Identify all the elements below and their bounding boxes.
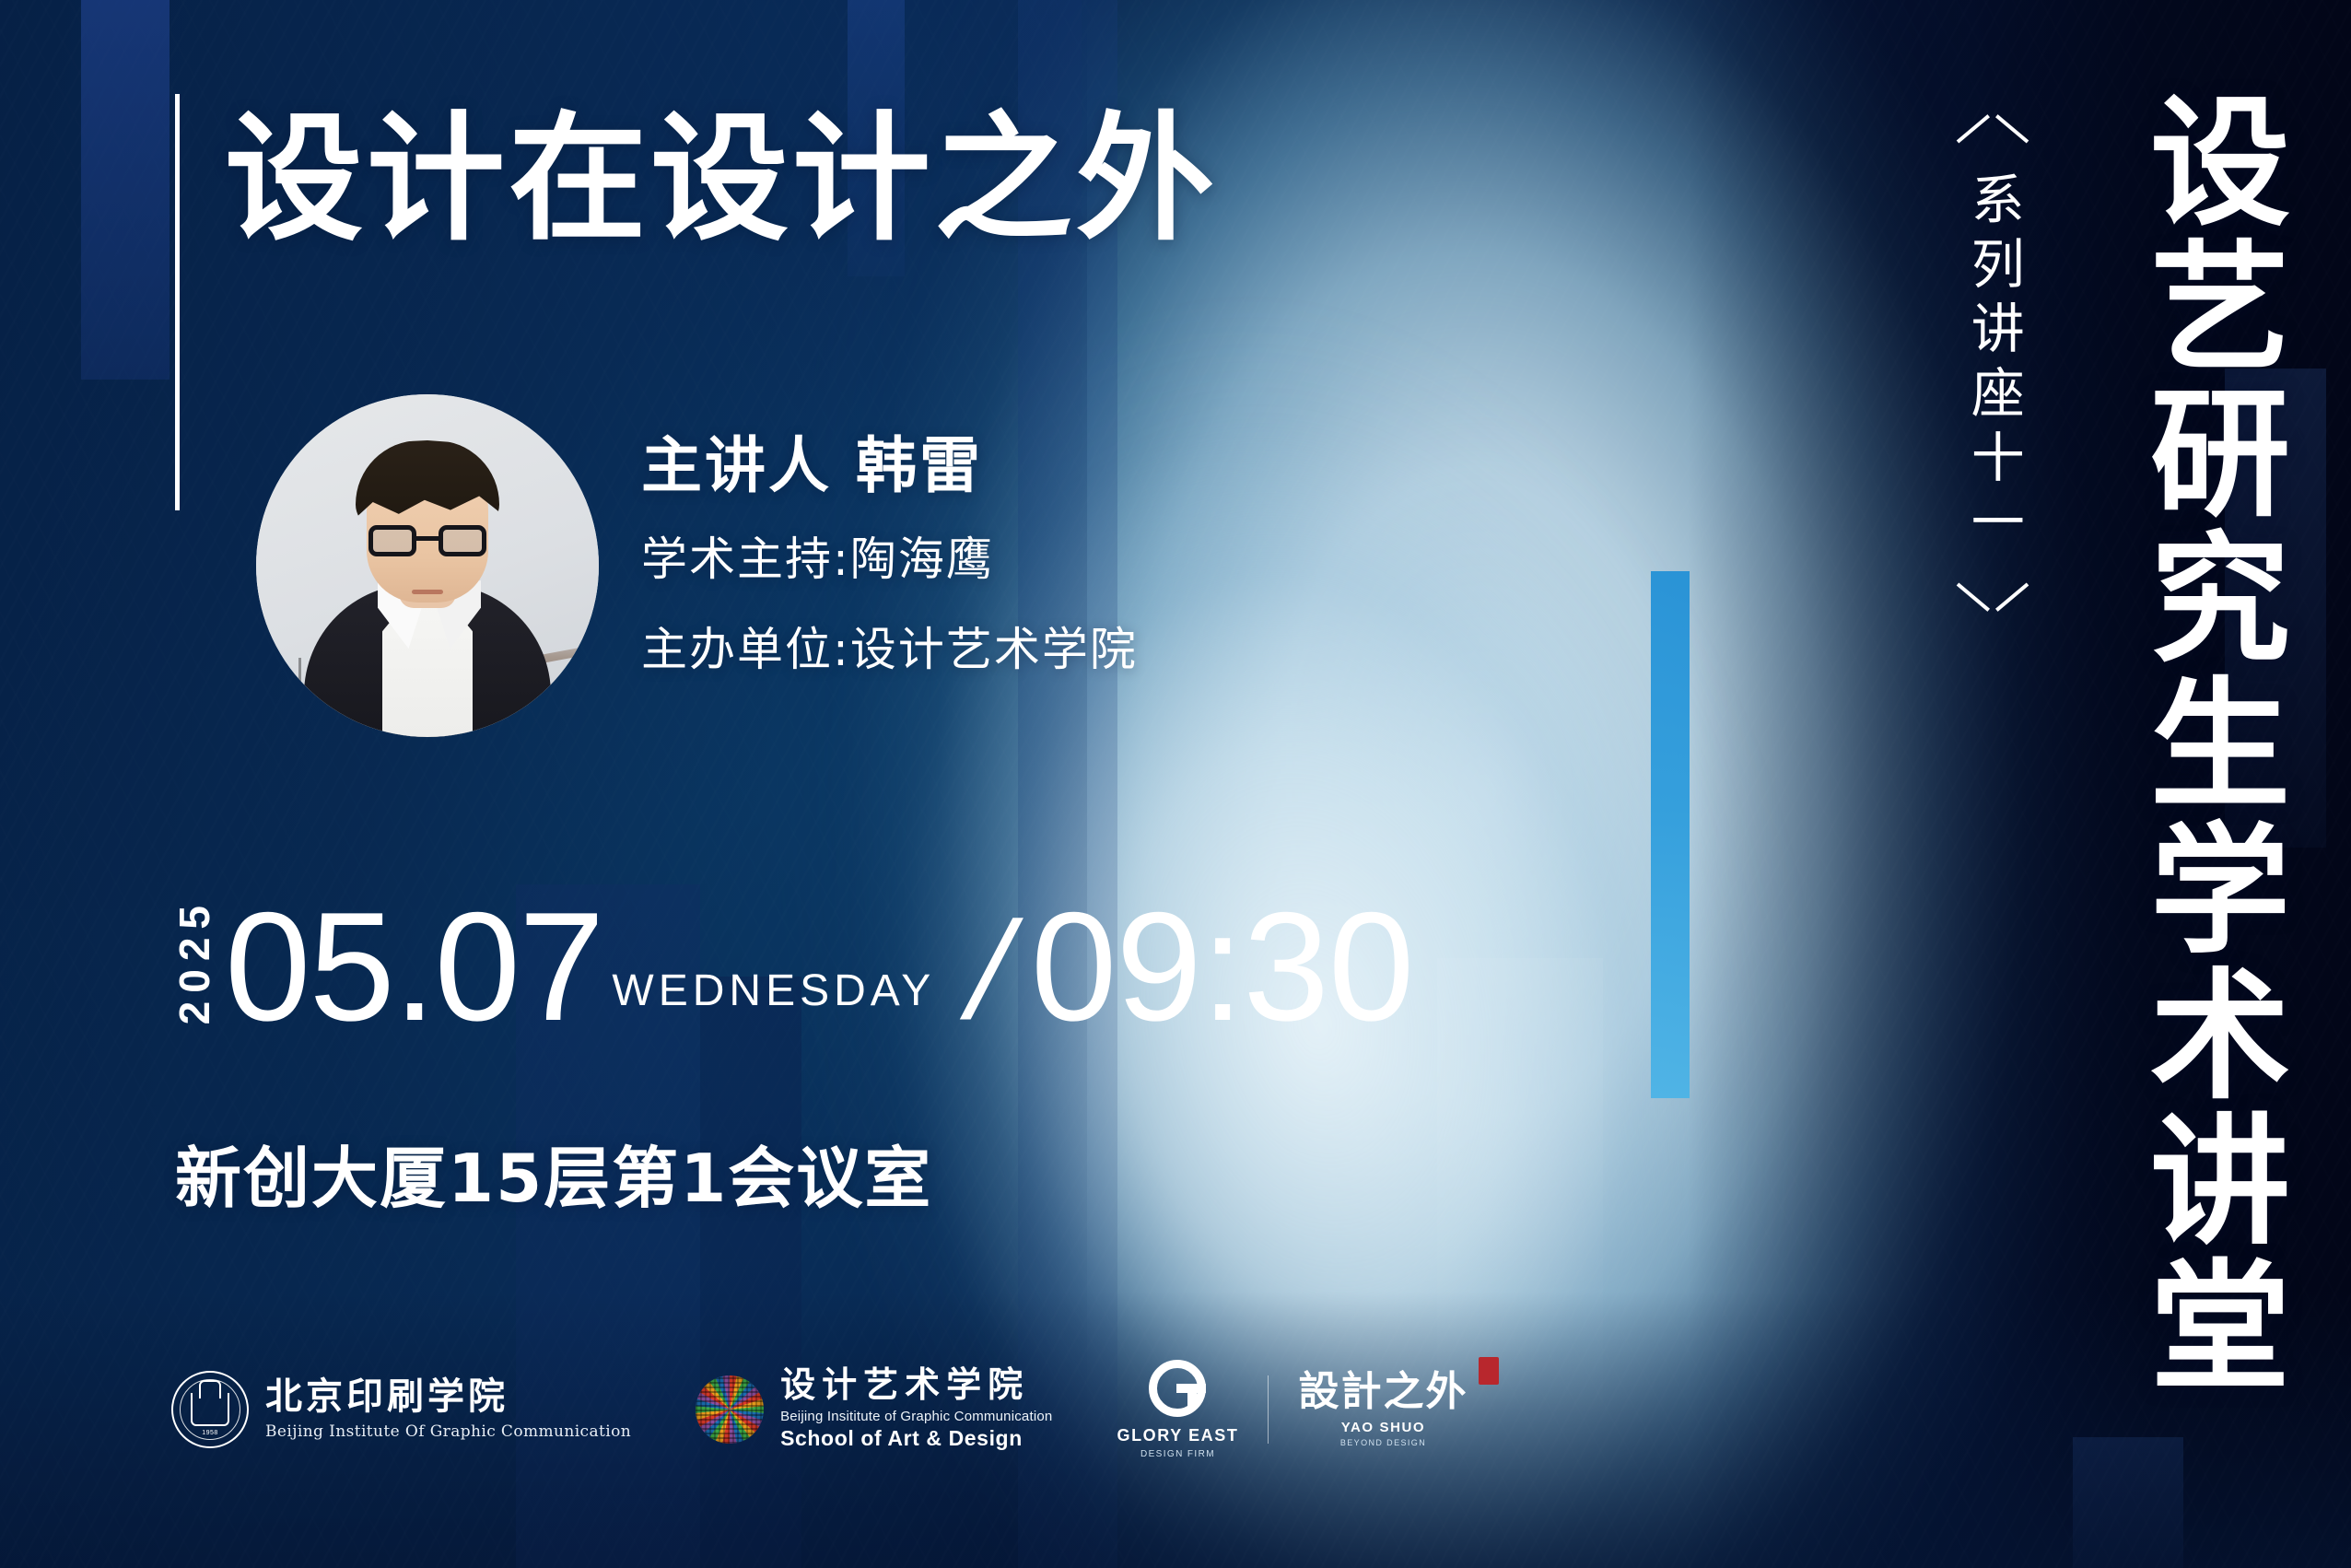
mosaic-globe-icon — [696, 1375, 764, 1444]
logo-bigc: 1958 北京印刷学院 Beijing Institute Of Graphic… — [171, 1371, 631, 1448]
logo-glory-east: GLORY EAST DESIGN FIRM — [1117, 1360, 1238, 1459]
separator-slash: / — [956, 908, 1025, 1033]
logo-bigc-cn: 北京印刷学院 — [265, 1378, 509, 1415]
decor-accent-bar-cyan — [1651, 571, 1690, 1098]
red-seal-icon — [1479, 1357, 1499, 1385]
glasses-bridge — [416, 536, 439, 541]
glory-east-g-icon — [1149, 1360, 1206, 1417]
datetime-row: 2025 05.07 WEDNESDAY / 09:30 — [173, 895, 1413, 1038]
glasses-lens-left — [368, 525, 416, 556]
vertical-main-title: 设艺研究生学术讲堂 — [2137, 88, 2277, 1398]
venue-location: 新创大厦15层第1会议室 — [175, 1124, 932, 1221]
logo-divider — [1268, 1375, 1269, 1444]
chevron-up-icon — [1959, 122, 2027, 158]
yao-shuo-sub: BEYOND DESIGN — [1340, 1438, 1426, 1447]
glasses-lens-right — [439, 525, 486, 556]
academic-host: 学术主持:陶海鹰 — [641, 528, 1138, 591]
glory-east-name: GLORY EAST — [1117, 1426, 1238, 1445]
decor-rect-right-low — [2073, 1437, 2183, 1568]
speaker-name: 主讲人 韩雷 — [641, 433, 1138, 500]
decor-rect-left-tall — [81, 0, 170, 380]
yao-shuo-name: YAO SHUO — [1341, 1420, 1425, 1435]
avatar-mouth — [412, 590, 443, 594]
decor-rect-band-d — [700, 977, 801, 1568]
yao-shuo-cn: 設計之外 — [1298, 1372, 1468, 1412]
chevron-down-icon — [1959, 568, 2027, 604]
logo-strip: 1958 北京印刷学院 Beijing Institute Of Graphic… — [171, 1360, 1468, 1459]
logo-school-art-design: 设计艺术学院 Beijing Insititute of Graphic Com… — [696, 1368, 1052, 1451]
speaker-info: 主讲人 韩雷 学术主持:陶海鹰 主办单位:设计艺术学院 — [641, 433, 1138, 681]
time-value: 09:30 — [1031, 895, 1413, 1038]
logo-sad-en2: School of Art & Design — [780, 1426, 1023, 1451]
logo-sad-text: 设计艺术学院 Beijing Insititute of Graphic Com… — [780, 1368, 1052, 1451]
series-badge: 系列讲座十一 — [1959, 122, 2027, 604]
logo-yao-shuo: 設計之外 YAO SHUO BEYOND DESIGN — [1298, 1372, 1468, 1447]
series-label: 系列讲座十一 — [1964, 171, 2020, 558]
logo-bigc-text: 北京印刷学院 Beijing Institute Of Graphic Comm… — [265, 1378, 631, 1441]
logo-sad-en1: Beijing Insititute of Graphic Communicat… — [780, 1409, 1052, 1424]
seal-year: 1958 — [202, 1430, 218, 1436]
weekday-label: WEDNESDAY — [612, 965, 935, 1016]
decor-white-rule — [175, 94, 180, 510]
university-seal-icon: 1958 — [171, 1371, 249, 1448]
seal-book-icon — [191, 1393, 229, 1426]
year-label: 2025 — [173, 897, 216, 1024]
logo-glory-east-yaoshuo: GLORY EAST DESIGN FIRM 設計之外 YAO SHUO BEY… — [1117, 1360, 1468, 1459]
poster-canvas: 设计在设计之外 主讲人 韩雷 学术主持:陶海鹰 主办单位:设计艺术学院 2025… — [0, 0, 2351, 1568]
logo-sad-cn: 设计艺术学院 — [780, 1368, 1029, 1403]
page-title: 设计在设计之外 — [225, 111, 1218, 249]
date-value: 05.07 — [225, 895, 602, 1038]
glory-east-sub: DESIGN FIRM — [1140, 1449, 1215, 1459]
speaker-avatar — [256, 394, 599, 737]
yao-shuo-cn-text: 設計之外 — [1298, 1368, 1468, 1415]
organizer: 主办单位:设计艺术学院 — [641, 618, 1138, 681]
glasses-icon — [368, 525, 486, 558]
logo-bigc-en: Beijing Institute Of Graphic Communicati… — [265, 1422, 631, 1441]
